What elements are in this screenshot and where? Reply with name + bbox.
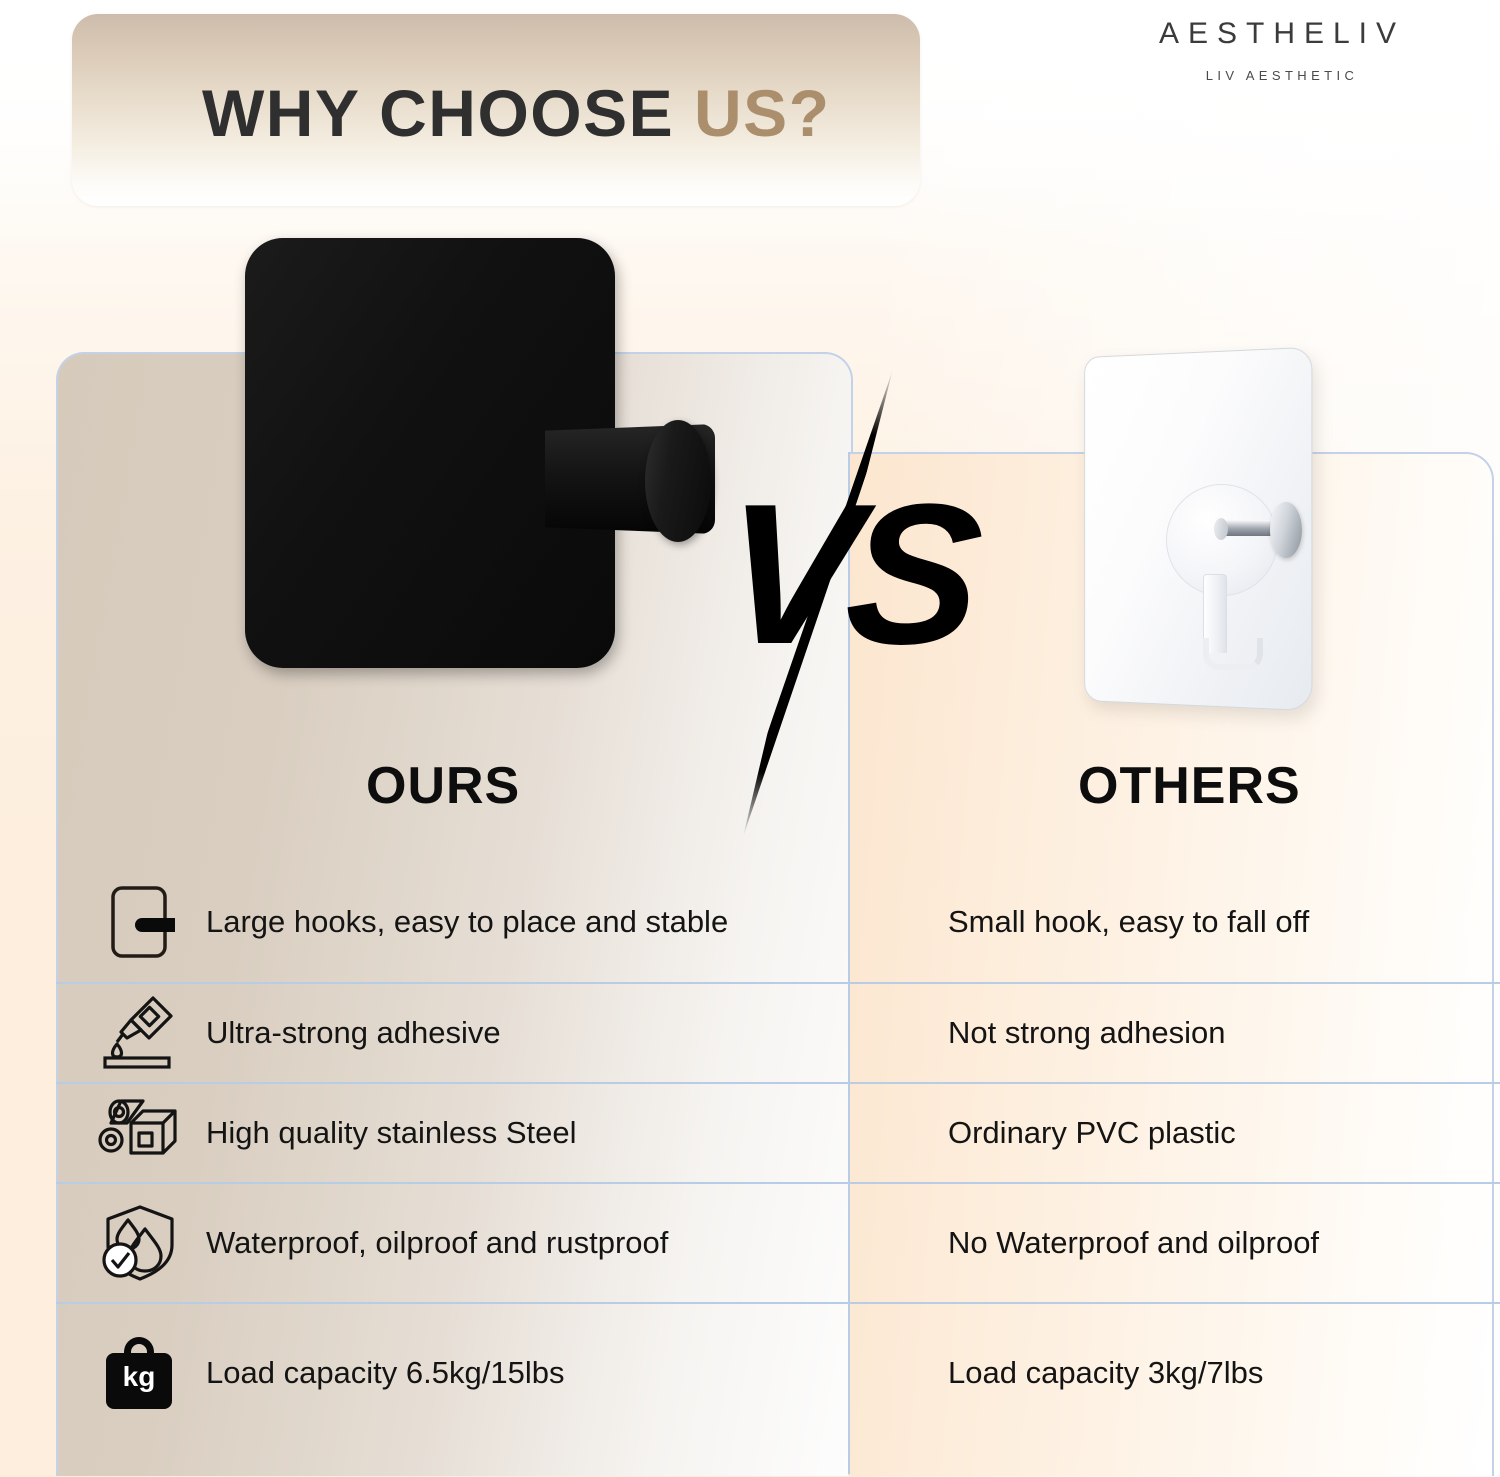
ours-knob-cap xyxy=(645,420,711,542)
row-label-others: No Waterproof and oilproof xyxy=(848,1223,1337,1263)
row-label-others: Load capacity 3kg/7lbs xyxy=(848,1353,1281,1393)
large-hook-icon xyxy=(56,882,206,962)
kg-badge: kg xyxy=(106,1337,172,1409)
others-product-image xyxy=(1078,352,1328,712)
table-row: Waterproof, oilproof and rustproof xyxy=(56,1182,849,1302)
row-label-ours: High quality stainless Steel xyxy=(206,1113,594,1153)
kg-weight-icon: kg xyxy=(56,1337,206,1409)
ours-feature-list: Large hooks, easy to place and stable Ul… xyxy=(56,862,849,1442)
others-feature-list: Small hook, easy to fall off Not strong … xyxy=(848,862,1500,1442)
table-row: Not strong adhesion xyxy=(848,982,1500,1082)
ours-product-image xyxy=(245,238,623,676)
adhesive-bottle-icon xyxy=(56,994,206,1072)
brand-logo: AESTHELIV LIV AESTHETIC xyxy=(1122,16,1442,83)
title-banner: WHY CHOOSE US? xyxy=(72,14,920,206)
table-row: kg Load capacity 6.5kg/15lbs xyxy=(56,1302,849,1442)
brand-tagline: LIV AESTHETIC xyxy=(1122,68,1442,83)
page-title-main: WHY CHOOSE xyxy=(202,76,694,150)
others-hook-tip xyxy=(1203,638,1263,670)
table-row: Small hook, easy to fall off xyxy=(848,862,1500,982)
row-label-ours: Large hooks, easy to place and stable xyxy=(206,902,746,942)
row-label-ours: Waterproof, oilproof and rustproof xyxy=(206,1223,686,1263)
table-row: High quality stainless Steel xyxy=(56,1082,849,1182)
stainless-steel-icon xyxy=(56,1095,206,1171)
page-title-accent: US? xyxy=(694,76,831,150)
others-heading: OTHERS xyxy=(1078,760,1301,812)
table-row: Ultra-strong adhesive xyxy=(56,982,849,1082)
row-label-others: Small hook, easy to fall off xyxy=(848,902,1327,942)
waterproof-shield-icon xyxy=(56,1202,206,1284)
kg-label: kg xyxy=(106,1363,172,1391)
infographic-canvas: WHY CHOOSE US? AESTHELIV LIV AESTHETIC V… xyxy=(0,0,1500,1477)
page-title: WHY CHOOSE US? xyxy=(202,80,831,146)
ours-heading: OURS xyxy=(366,760,520,812)
row-label-others: Ordinary PVC plastic xyxy=(848,1113,1254,1153)
table-row: Large hooks, easy to place and stable xyxy=(56,862,849,982)
table-row: Ordinary PVC plastic xyxy=(848,1082,1500,1182)
table-row: Load capacity 3kg/7lbs xyxy=(848,1302,1500,1442)
others-peg-head xyxy=(1270,502,1302,558)
others-peg-collar xyxy=(1214,518,1228,540)
row-label-ours: Load capacity 6.5kg/15lbs xyxy=(206,1353,582,1393)
row-label-others: Not strong adhesion xyxy=(848,1013,1243,1053)
row-label-ours: Ultra-strong adhesive xyxy=(206,1013,519,1053)
vs-divider: VS xyxy=(706,355,936,855)
table-row: No Waterproof and oilproof xyxy=(848,1182,1500,1302)
brand-name: AESTHELIV xyxy=(1122,16,1442,52)
